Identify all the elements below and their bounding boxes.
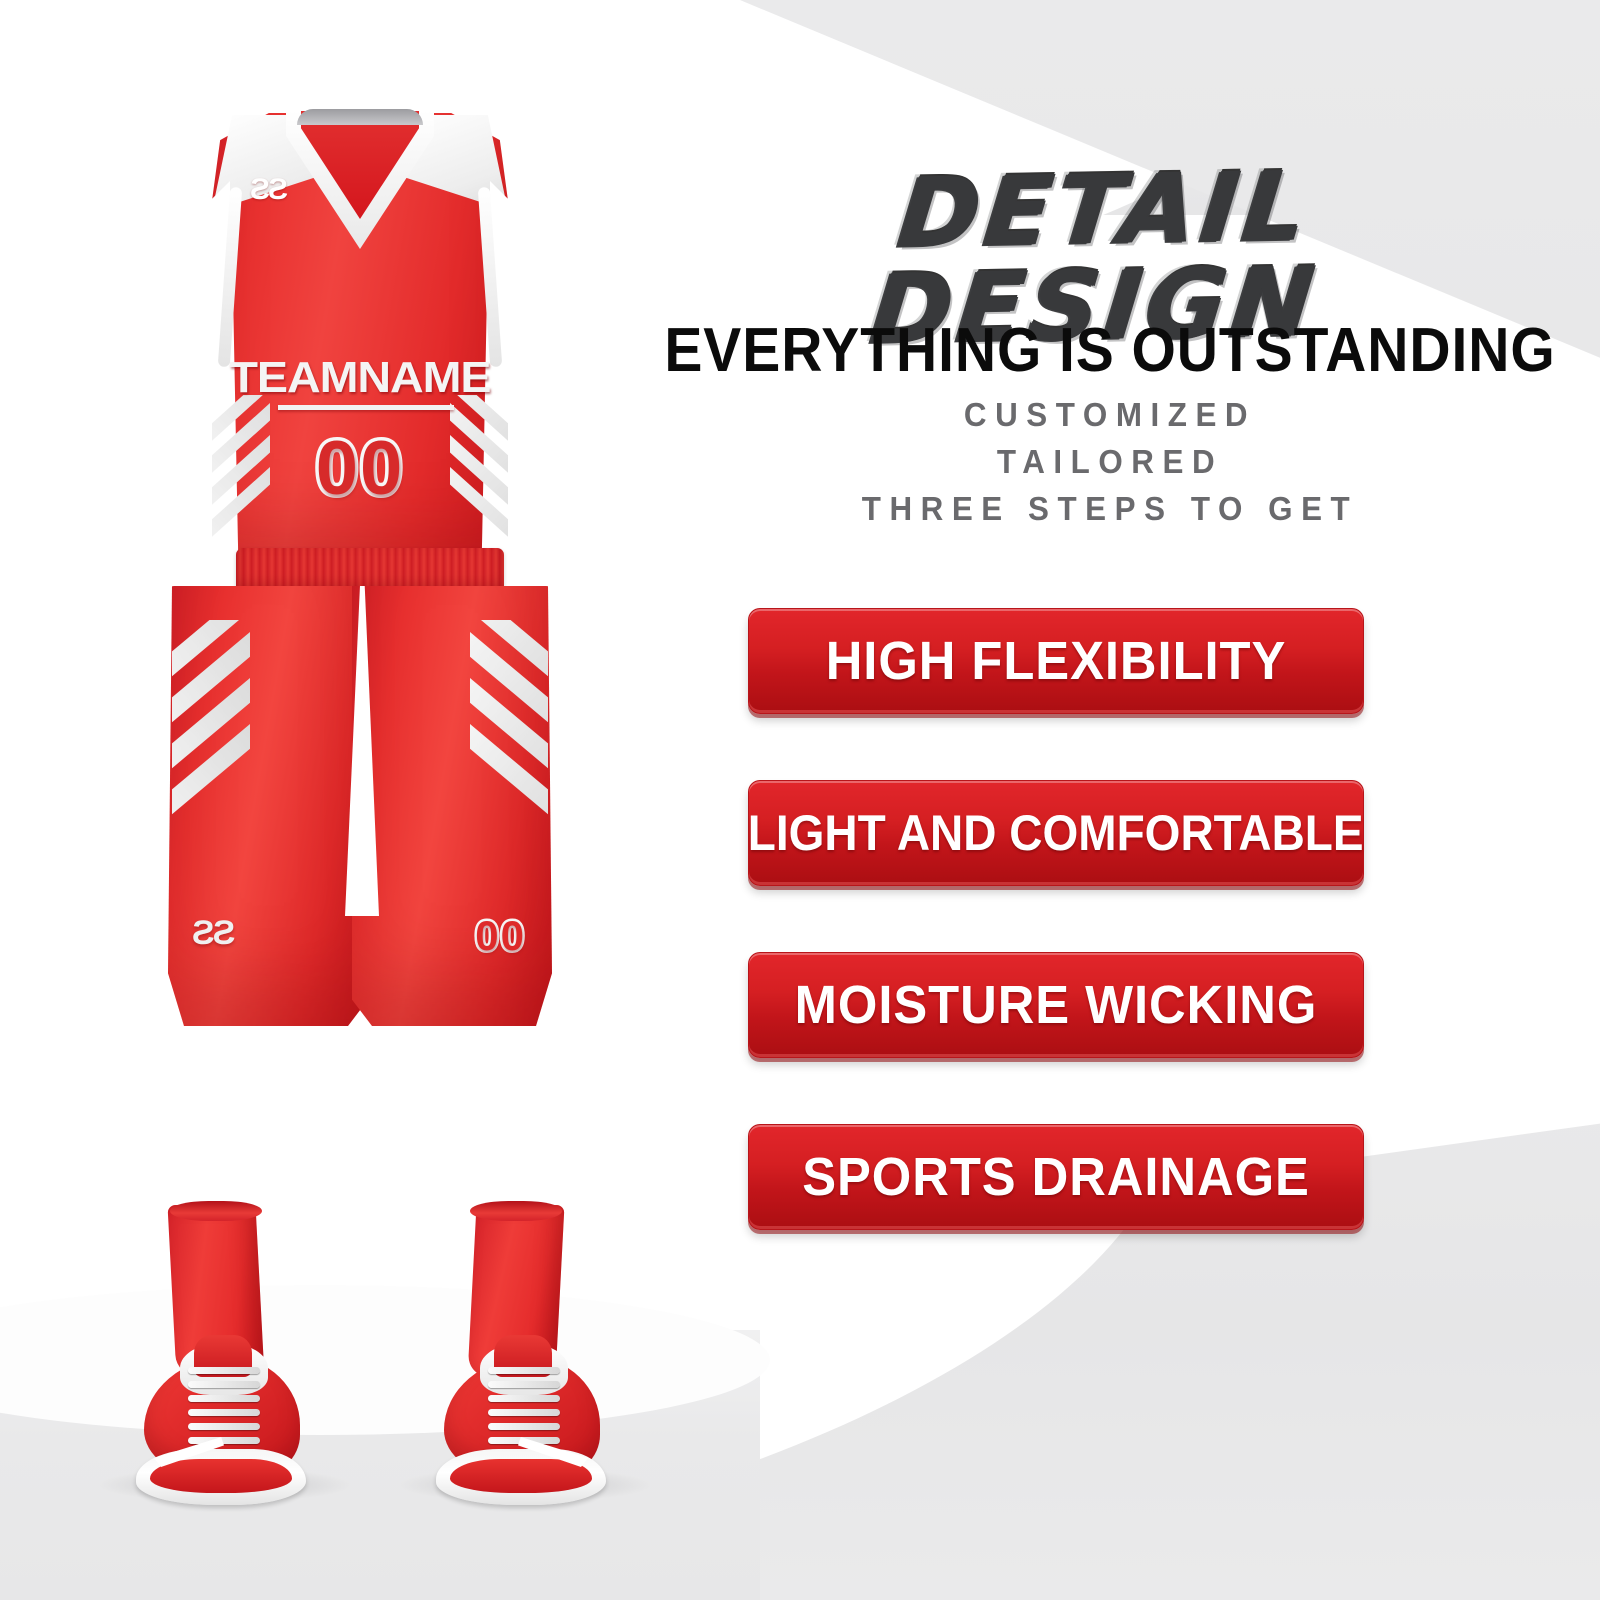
tagline-three-steps: THREE STEPS TO GET [645, 486, 1576, 533]
jersey-neck-rim [297, 109, 423, 125]
shoe-laces-right [482, 1367, 566, 1445]
shoe-right [436, 1333, 606, 1513]
page-subtitle: EVERYTHING IS OUTSTANDING [659, 318, 1561, 383]
tagline-tailored: TAILORED [645, 439, 1576, 486]
shorts: SS 00 [150, 586, 570, 1046]
shoe-left [136, 1333, 306, 1513]
shorts-stripes-left [172, 620, 250, 850]
feature-row: MOISTURE WICKING [620, 952, 1600, 1124]
shoe-laces-left [182, 1367, 266, 1445]
feature-pill-light-and-comfortable[interactable]: LIGHT AND COMFORTABLE [748, 780, 1364, 886]
feature-label: SPORTS DRAINAGE [802, 1146, 1310, 1208]
right-foot [430, 1205, 610, 1535]
footwear [110, 1205, 590, 1535]
product-photo: SS TEAMNAME 00 SS 00 [0, 0, 660, 1600]
tagline-customized: CUSTOMIZED [645, 392, 1576, 439]
feature-label: HIGH FLEXIBILITY [826, 630, 1287, 692]
jersey: SS TEAMNAME 00 [160, 95, 560, 565]
jersey-number: 00 [208, 425, 512, 512]
shoe-midsole-right [450, 1459, 592, 1493]
feature-pill-moisture-wicking[interactable]: MOISTURE WICKING [748, 952, 1364, 1058]
tagline-group: CUSTOMIZED TAILORED THREE STEPS TO GET [620, 392, 1600, 533]
shorts-stripes-right [470, 620, 548, 850]
feature-pill-sports-drainage[interactable]: SPORTS DRAINAGE [748, 1124, 1364, 1230]
left-foot [130, 1205, 310, 1535]
copy-panel: DETAIL DESIGN EVERYTHING IS OUTSTANDING … [620, 0, 1600, 1600]
jersey-team-name-underline [278, 405, 454, 410]
shoe-midsole-left [150, 1459, 292, 1493]
shorts-brand-logo: SS [194, 914, 235, 953]
jersey-team-name: TEAMNAME [199, 353, 521, 403]
feature-pill-high-flexibility[interactable]: HIGH FLEXIBILITY [748, 608, 1364, 714]
feature-list: HIGH FLEXIBILITY LIGHT AND COMFORTABLE [620, 608, 1600, 1296]
feature-row: HIGH FLEXIBILITY [620, 608, 1600, 780]
feature-label: MOISTURE WICKING [795, 974, 1318, 1036]
sock-cuff-right [470, 1201, 562, 1221]
jersey-brand-logo: SS [252, 173, 288, 207]
feature-row: LIGHT AND COMFORTABLE [620, 780, 1600, 952]
shorts-number: 00 [475, 912, 526, 960]
feature-row: SPORTS DRAINAGE [620, 1124, 1600, 1296]
sock-cuff-left [170, 1201, 262, 1221]
feature-label: LIGHT AND COMFORTABLE [748, 804, 1364, 862]
